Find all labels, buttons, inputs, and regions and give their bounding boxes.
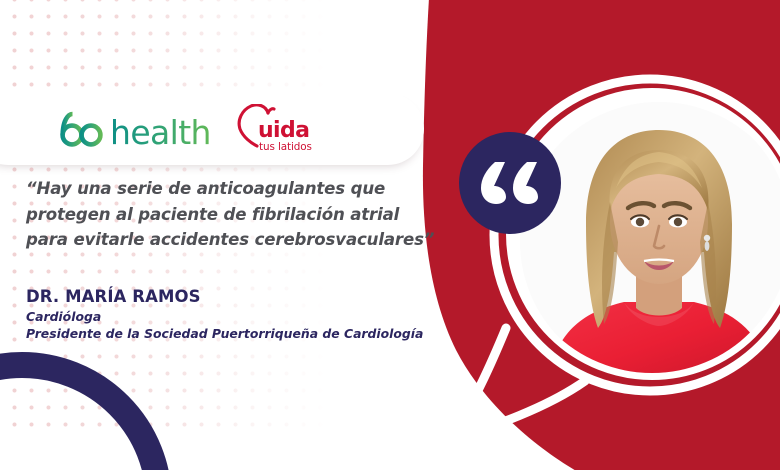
- attribution: DR. MARÍA RAMOS Cardióloga Presidente de…: [26, 287, 456, 342]
- navy-arc-decoration: [0, 352, 172, 470]
- attribution-name: DR. MARÍA RAMOS: [26, 287, 456, 307]
- quotation-mark-icon: [459, 132, 561, 234]
- avatar: [506, 88, 780, 380]
- cuida-tus-latidos-logo: uida tus latidos: [232, 104, 312, 154]
- be-health-logo: health: [58, 110, 210, 148]
- portrait-illustration: [520, 102, 780, 380]
- attribution-organization: Presidente de la Sociedad Puertorriqueña…: [26, 325, 456, 342]
- logo-card: health uida tus latidos: [0, 93, 424, 165]
- portrait-ring: [506, 88, 780, 380]
- logo-row: health uida tus latidos: [58, 93, 312, 165]
- quote-text: “Hay una serie de anticoagulantes que pr…: [26, 176, 444, 253]
- portrait-clip: [520, 102, 780, 380]
- red-speech-bubble-shape: [420, 0, 780, 470]
- attribution-role: Cardióloga: [26, 309, 456, 325]
- svg-text:uida: uida: [258, 118, 309, 143]
- quote-card: health uida tus latidos “Hay una serie d…: [0, 0, 780, 470]
- svg-text:tus latidos: tus latidos: [259, 141, 312, 153]
- svg-text:health: health: [110, 113, 210, 148]
